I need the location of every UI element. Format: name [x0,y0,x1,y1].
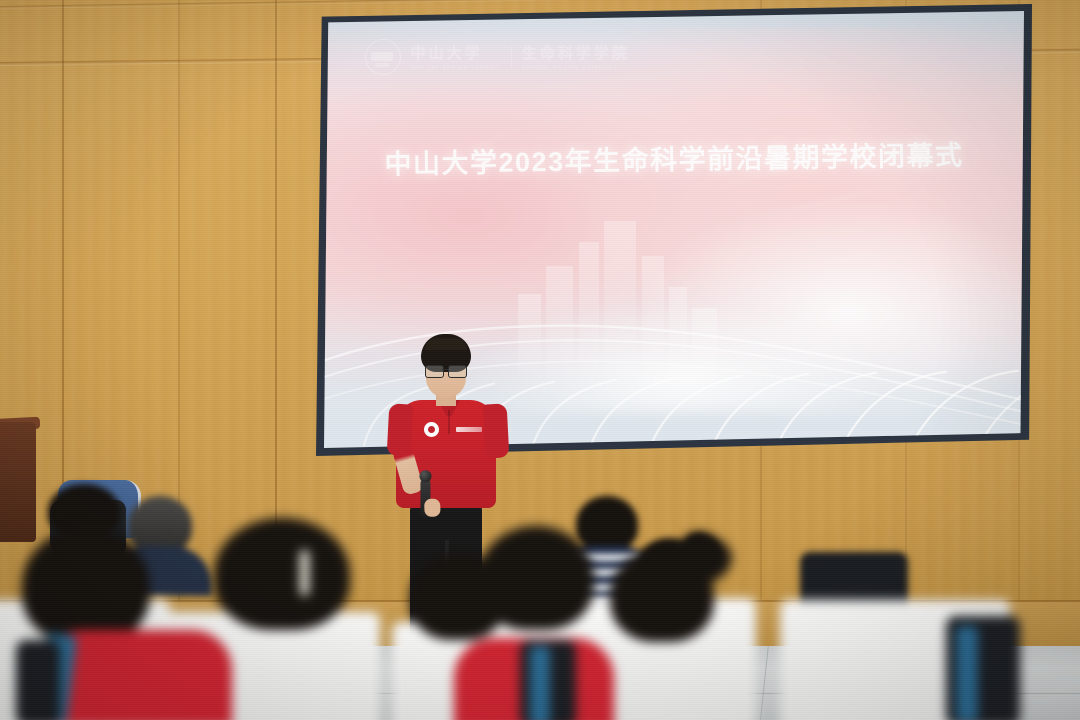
conference-photo-scene: 中山大学 SUN YAT-SEN UNIVERSITY 生命科学学院 SCHOO… [0,0,1080,720]
glasses-lens-right [448,365,467,378]
glasses-lens-left [425,365,444,378]
logo-university-zh: 中山大学 [411,42,501,63]
logo-university-en: SUN YAT-SEN UNIVERSITY [411,65,501,71]
logo-school-zh: 生命科学学院 [522,42,630,63]
logo-school-block: 生命科学学院 SCHOOL OF LIFE SCIENCES [522,42,630,71]
logo-school-en: SCHOOL OF LIFE SCIENCES [522,65,630,71]
slide-logo-lockup: 中山大学 SUN YAT-SEN UNIVERSITY 生命科学学院 SCHOO… [365,39,630,75]
polo-placket [448,410,450,434]
logo-divider [511,46,512,68]
glasses-icon [424,365,468,376]
chest-badge-icon [424,422,439,437]
attendee-head [478,526,594,630]
pearl-hair-clip [300,550,309,596]
attendee-head [214,518,350,630]
sysu-seal-icon [365,39,401,75]
logo-university-block: 中山大学 SUN YAT-SEN UNIVERSITY [411,42,501,71]
bag-strap [956,626,978,720]
polo-sleeve-right [483,403,510,458]
sleeve-text-mark [456,427,482,432]
bag-strap [530,646,550,720]
audience-front-row [0,490,1080,720]
backpack [16,640,60,720]
attendee-head [22,528,150,644]
